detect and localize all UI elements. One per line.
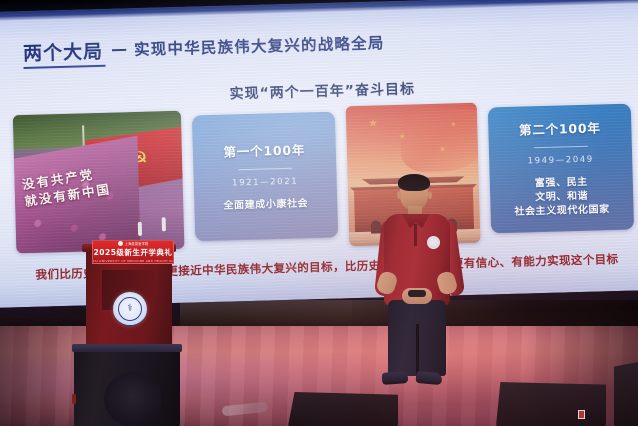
subwoofer-top [72, 344, 182, 352]
podium-sign: 上海健康医学院 2025级新生开学典礼 SHANGHAI UNIVERSITY … [92, 240, 174, 264]
shirt-chest-logo [427, 236, 440, 249]
person-right-shoe [416, 371, 443, 385]
card-heading: 第一个100年 [223, 139, 305, 160]
sign-sub-text: SHANGHAI UNIVERSITY OF MEDICINE AND HEAL… [92, 259, 174, 263]
subwoofer-cone [104, 372, 162, 426]
flag-star-icon: ★ [450, 119, 457, 130]
sign-org-name: 上海健康医学院 [125, 241, 149, 246]
card-heading: 第二个100年 [519, 117, 601, 138]
sign-logo-row: 上海健康医学院 [118, 241, 149, 246]
slide-title-rest: 实现中华民族伟大复兴的战略全局 [134, 34, 385, 59]
flag-star-icon: ★ [398, 131, 405, 142]
person-ear [428, 191, 432, 199]
person-leg-split [416, 324, 419, 378]
university-logo-icon [118, 241, 123, 246]
card-years: 1921—2021 [232, 177, 298, 189]
card-lines: 富强、民主 文明、和谐 社会主义现代化国家 [513, 175, 610, 220]
card-line: 全面建成小康社会 [223, 197, 308, 213]
stage-scene: 两个大局—实现中华民族伟大复兴的战略全局 实现“两个一百年”奋斗目标 ☭ 没有共… [0, 0, 638, 426]
flower-display-photo: ☭ 没有共产党 就没有新中国 [13, 111, 185, 253]
person-ear [397, 191, 401, 199]
flag-wave-overlay [400, 109, 481, 173]
speaker-person [372, 176, 464, 388]
mini-person [162, 217, 166, 231]
university-emblem: ⚕ [113, 292, 147, 326]
held-object [408, 290, 426, 297]
card-line: 社会主义现代化国家 [514, 203, 610, 220]
card-body: 第二个100年 1949—2049 富强、民主 文明、和谐 社会主义现代化国家 [488, 104, 634, 234]
flag-star-icon: ★ [368, 117, 378, 128]
slide-title-dash: — [105, 39, 135, 59]
person-hair [398, 174, 430, 191]
polo-placket [414, 224, 417, 246]
photo-mini-people [136, 217, 179, 240]
slide-panels: ☭ 没有共产党 就没有新中国 第一个100年 [13, 99, 637, 258]
stage-monitor-right [496, 382, 606, 426]
card-lines: 全面建成小康社会 [223, 197, 308, 213]
first-centenary-card: 第一个100年 1921—2021 全面建成小康社会 [192, 112, 338, 242]
slide-title-main: 两个大局 [23, 41, 106, 69]
second-centenary-card: 第二个100年 1949—2049 富强、民主 文明、和谐 社会主义现代化国家 [488, 104, 634, 234]
mini-person [138, 222, 142, 236]
emblem-caduceus-icon: ⚕ [118, 297, 142, 321]
card-divider [238, 168, 292, 170]
card-body: 第一个100年 1921—2021 全面建成小康社会 [192, 112, 338, 242]
person-left-shoe [382, 371, 409, 385]
monitor-led-icon [578, 410, 585, 419]
stage-monitor-left [288, 392, 398, 426]
slide-title: 两个大局—实现中华民族伟大复兴的战略全局 [23, 31, 385, 65]
card-divider [533, 146, 587, 148]
sign-main-text: 2025级新生开学典礼 [94, 247, 173, 258]
flag-star-icon: ★ [439, 144, 446, 155]
card-years: 1949—2049 [528, 155, 594, 167]
subwoofer-led-icon [72, 394, 76, 404]
stage-monitor-edge [614, 360, 638, 426]
